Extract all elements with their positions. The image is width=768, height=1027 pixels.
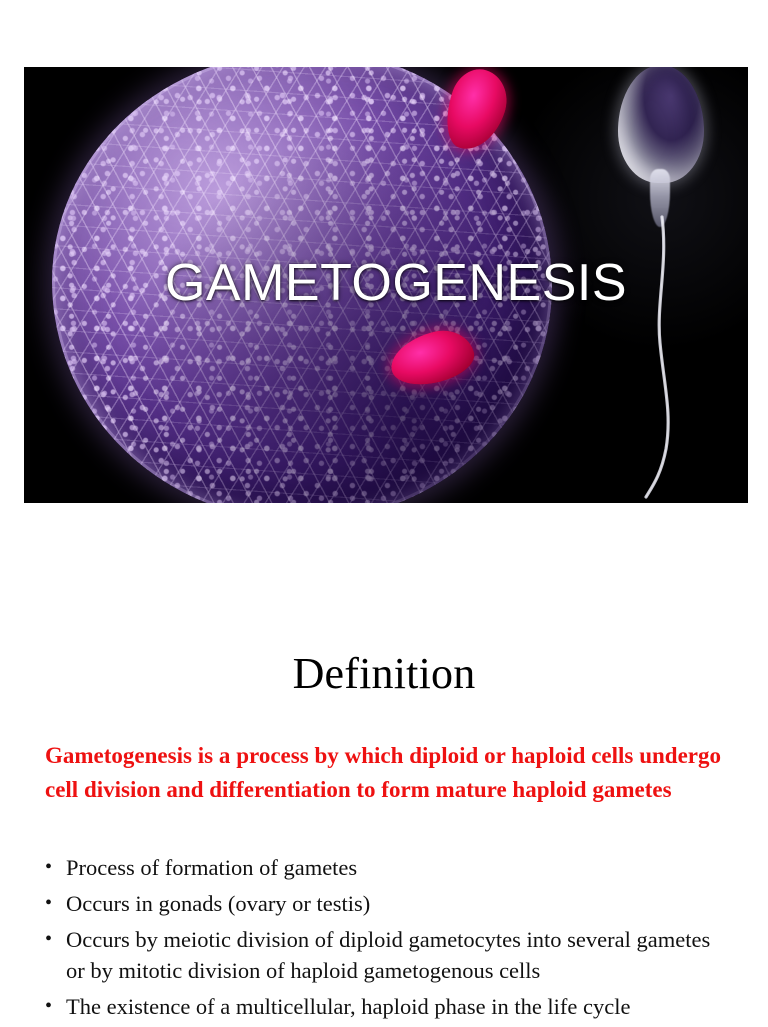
list-item: • Occurs in gonads (ovary or testis) (42, 888, 732, 919)
bullet-icon: • (45, 924, 52, 955)
bullet-icon: • (45, 888, 52, 919)
list-item-label: Occurs in gonads (ovary or testis) (66, 891, 370, 916)
bullet-list: • Process of formation of gametes • Occu… (42, 852, 732, 1027)
hero-image: GAMETOGENESIS (24, 67, 748, 503)
hero-headline: GAMETOGENESIS (24, 253, 748, 313)
list-item-label: The existence of a multicellular, haploi… (66, 994, 631, 1019)
list-item-label: Occurs by meiotic division of diploid ga… (66, 927, 710, 983)
slide-page: GAMETOGENESIS Definition Gametogenesis i… (0, 0, 768, 1024)
list-item: • Process of formation of gametes (42, 852, 732, 883)
bullet-icon: • (45, 991, 52, 1022)
page-title: Definition (0, 648, 768, 699)
definition-paragraph: Gametogenesis is a process by which dipl… (45, 739, 721, 807)
list-item-label: Process of formation of gametes (66, 855, 357, 880)
list-item: • Occurs by meiotic division of diploid … (42, 924, 732, 986)
list-item: • The existence of a multicellular, hapl… (42, 991, 732, 1022)
bullet-icon: • (45, 852, 52, 883)
sperm-head (618, 67, 704, 183)
